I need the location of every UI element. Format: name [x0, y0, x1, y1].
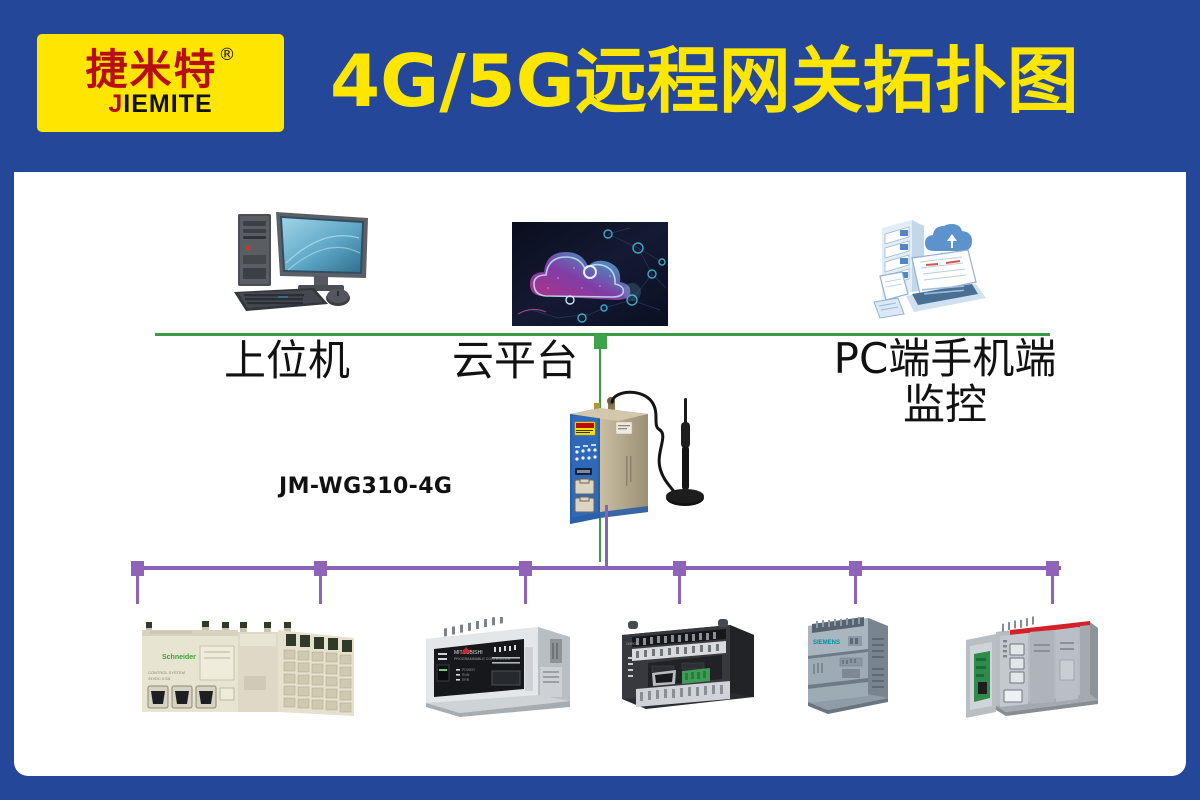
gateway-fieldbus-drop-line: [605, 505, 608, 567]
svg-text:24VDC 0.5A: 24VDC 0.5A: [148, 676, 171, 681]
brand-logo-english: JIEMITE: [108, 92, 212, 117]
fieldbus-tap-stem-5: [854, 574, 857, 604]
svg-text:SIEMENS: SIEMENS: [813, 640, 840, 646]
industrial-gateway-icon: [556, 386, 716, 546]
brand-logo-english-rest: IEMITE: [123, 90, 212, 118]
brand-logo-chinese: 捷米特: [85, 49, 217, 91]
pc-mobile-monitoring-icon: [868, 210, 988, 328]
omron-plc-icon: OMRON: [618, 617, 758, 714]
page-header: 捷米特 ® JIEMITE 4G/5G远程网关拓扑图: [0, 0, 1200, 160]
brand-logo: 捷米特 ® JIEMITE: [37, 34, 284, 132]
fieldbus-tap-stem-2: [319, 574, 322, 604]
fieldbus-tap-stem-1: [136, 574, 139, 604]
mitsubishi-plc-icon: MITSUBISHI PROGRAMMABLE CONTROLLER POWER…: [420, 617, 575, 717]
fieldbus-tap-stem-3: [524, 574, 527, 604]
cloud-platform-icon: [512, 222, 668, 326]
svg-text:Schneider: Schneider: [162, 654, 196, 661]
node-label-monitor: PC端手机端监控: [832, 336, 1058, 428]
svg-text:CONTROL SYSTEM: CONTROL SYSTEM: [148, 670, 185, 675]
page-title: 4G/5G远程网关拓扑图: [330, 42, 1079, 121]
fieldbus-tap-stem-6: [1051, 574, 1054, 604]
node-label-cloud: 云平台: [452, 338, 578, 384]
abb-plc-icon: [962, 614, 1102, 724]
svg-text:POWER: POWER: [462, 668, 475, 672]
fieldbus-backbone: [131, 566, 1061, 570]
registered-trademark-icon: ®: [219, 47, 236, 64]
svg-text:ERR: ERR: [462, 678, 470, 682]
node-label-host-pc: 上位机: [224, 338, 350, 384]
fieldbus-tap-stem-4: [678, 574, 681, 604]
brand-logo-english-initial: J: [108, 90, 123, 118]
brand-logo-cn-row: 捷米特 ®: [85, 49, 235, 91]
desktop-computer-icon: [228, 208, 378, 320]
svg-text:RUN: RUN: [462, 673, 470, 677]
svg-text:OMRON: OMRON: [626, 642, 639, 646]
siemens-s7-1200-plc-icon: SIEMENS: [800, 612, 895, 717]
schneider-plc-icon: Schneider LMC058 CONTROL SYSTEM24VDC 0.5…: [140, 616, 360, 726]
gateway-model-label: JM-WG310-4G: [279, 474, 452, 499]
